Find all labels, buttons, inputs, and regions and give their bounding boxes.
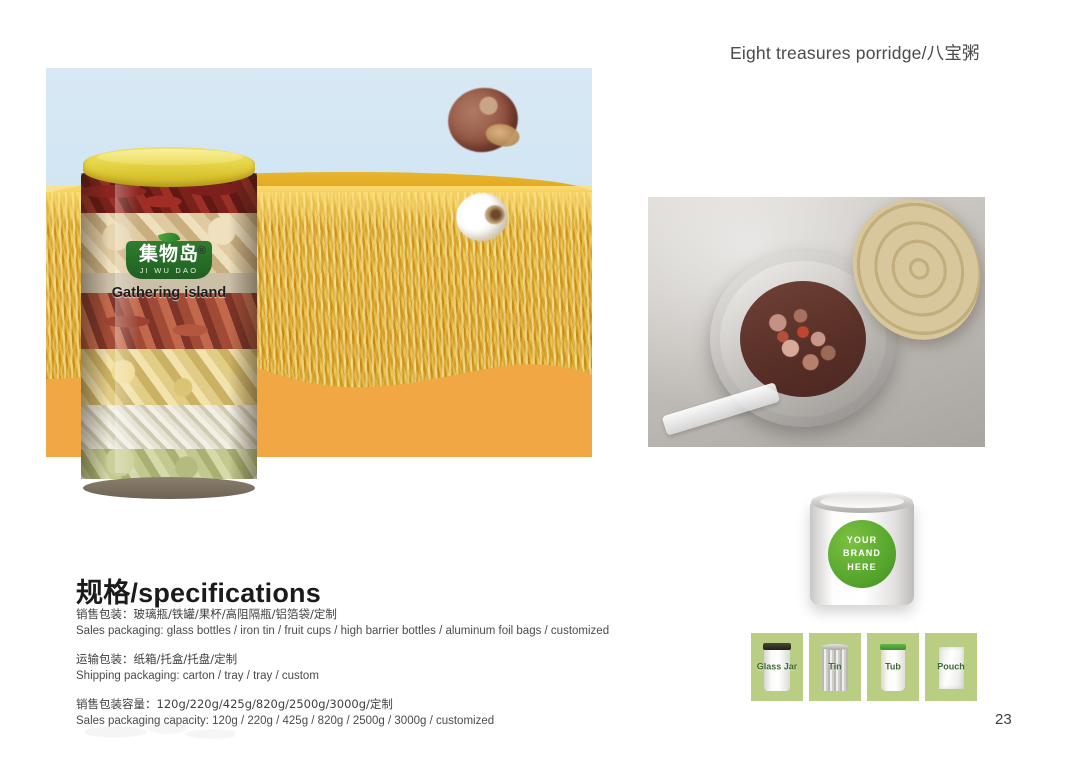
specifications-heading: 规格/specifications (76, 571, 321, 610)
can-lid (83, 147, 255, 187)
packaging-options-strip: Glass Jar Tin Tub Pouch (751, 633, 977, 701)
can-base (83, 477, 255, 499)
packaging-label: Tin (809, 662, 861, 671)
porridge-photo (648, 197, 985, 447)
brand-mockup-can: YOUR BRAND HERE (810, 491, 914, 609)
product-can: 集物岛 JI WU DAO ® Gathering island (81, 147, 257, 491)
porridge-contents (740, 281, 866, 397)
packaging-label: Pouch (925, 662, 977, 671)
brand-line-1: YOUR (847, 534, 877, 547)
can-shadow-left (81, 173, 109, 479)
spec-text-chinese: 运输包装：纸箱/托盒/托盘/定制 (76, 651, 656, 668)
spec-text-english: Shipping packaging: carton / tray / tray… (76, 668, 656, 685)
catalog-page: Eight treasures porridge/八宝粥 (0, 0, 1080, 763)
can-lid-top (97, 149, 243, 165)
page-title: Eight treasures porridge/八宝粥 (730, 40, 980, 65)
packaging-option-pouch[interactable]: Pouch (925, 633, 977, 701)
spec-text-chinese: 销售包装容量：120g/220g/425g/820g/2500g/3000g/定… (76, 696, 656, 713)
brand-name-chinese: 集物岛 (139, 244, 199, 265)
mockup-can-top (811, 491, 913, 513)
brand-name-english: Gathering island (95, 285, 243, 301)
spec-text-english: Sales packaging: glass bottles / iron ti… (76, 623, 656, 640)
watermark-smudge (85, 712, 235, 752)
brand-line-3: HERE (847, 561, 876, 574)
can-gloss-highlight (115, 177, 139, 473)
spec-block-sales-packaging: 销售包装：玻璃瓶/铁罐/果杯/高阻隔瓶/铝箔袋/定制 Sales packagi… (76, 606, 656, 640)
brand-placeholder-circle: YOUR BRAND HERE (828, 520, 896, 588)
brand-name-pinyin: JI WU DAO (139, 266, 199, 275)
brand-badge: 集物岛 JI WU DAO ® (126, 241, 212, 279)
brand-line-2: BRAND (843, 547, 881, 560)
mockup-can-top-inner (820, 495, 904, 508)
packaging-label: Tub (867, 662, 919, 671)
page-number: 23 (995, 711, 1012, 728)
packaging-option-glass-jar[interactable]: Glass Jar (751, 633, 803, 701)
registered-trademark-icon: ® (198, 245, 206, 257)
packaging-option-tin[interactable]: Tin (809, 633, 861, 701)
can-shadow-right (229, 173, 257, 479)
can-brand-label: 集物岛 JI WU DAO ® Gathering island (95, 241, 243, 301)
spec-text-chinese: 销售包装：玻璃瓶/铁罐/果杯/高阻隔瓶/铝箔袋/定制 (76, 606, 656, 623)
packaging-option-tub[interactable]: Tub (867, 633, 919, 701)
spec-block-shipping-packaging: 运输包装：纸箱/托盒/托盘/定制 Shipping packaging: car… (76, 651, 656, 685)
packaging-label: Glass Jar (751, 662, 803, 671)
